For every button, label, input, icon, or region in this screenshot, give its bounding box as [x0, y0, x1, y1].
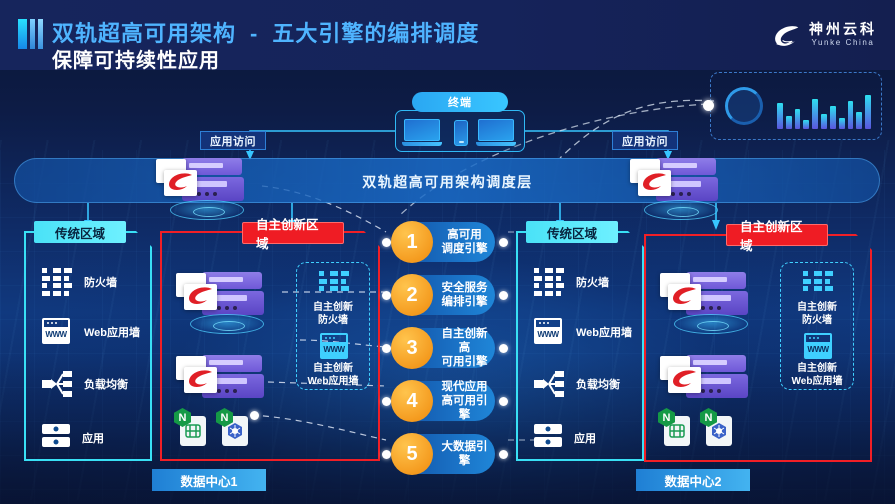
web-application-wall-icon: WWW — [534, 318, 564, 346]
access-label-left: 应用访问 — [200, 131, 266, 150]
engine-item-3[interactable]: 3 自主创新高 可用引擎 — [395, 328, 495, 368]
brand-card-icon — [184, 367, 217, 393]
laptop-icon — [404, 119, 444, 146]
web-application-wall-icon: WWW — [320, 333, 348, 359]
firewall-icon — [42, 268, 72, 296]
application-server-icon — [534, 424, 562, 452]
dc2-service-firewall: 防火墙 — [534, 268, 609, 296]
widget-connector-dot — [703, 100, 714, 111]
dc1-service-mesh-tile: N — [180, 416, 206, 446]
dc2-inner-waf-label: 自主创新 Web应用墙 — [781, 362, 853, 388]
page-title-dash: - — [236, 21, 272, 46]
dc1-kubernetes-tile: N — [222, 416, 248, 446]
dc1-innovation-inner-box: 自主创新 防火墙 WWW 自主创新 Web应用墙 — [296, 262, 370, 390]
brand-logo: 神州云科 Yunke China — [772, 22, 877, 49]
engine-connector-dot-left — [382, 397, 391, 406]
engine-number: 1 — [391, 221, 433, 263]
engine-label: 现代应用 高可用引擎 — [439, 380, 490, 422]
scheduling-band-label: 双轨超高可用架构调度层 — [0, 172, 895, 192]
engine-number: 2 — [391, 274, 433, 316]
web-application-wall-icon: WWW — [804, 333, 832, 359]
firewall-icon — [534, 268, 564, 296]
page-title-sub: 五大引擎的编排调度 — [272, 21, 479, 46]
engine-connector-dot-left — [382, 344, 391, 353]
service-label: 负载均衡 — [84, 376, 128, 392]
engine-connector-dot-right — [499, 291, 508, 300]
engine-connector-dot-left — [382, 238, 391, 247]
dc2-server-stack-1 — [660, 272, 752, 318]
band-server-stack-right — [630, 158, 722, 204]
engine-label: 安全服务 编排引擎 — [439, 281, 490, 309]
service-label: Web应用墙 — [84, 324, 140, 340]
analytics-widget — [710, 72, 882, 140]
page-header: 双轨超高可用架构-五大引擎的编排调度 保障可持续性应用 神州云科 Yunke C… — [0, 0, 895, 70]
datacenter-1-label: 数据中心1 — [152, 469, 266, 491]
dc2-service-lb: 负载均衡 — [534, 370, 620, 398]
dc2-innovation-zone-label: 自主创新区域 — [726, 224, 828, 246]
engine-item-5[interactable]: 5 大数据引擎 — [395, 434, 495, 474]
access-label-right: 应用访问 — [612, 131, 678, 150]
terminal-group — [395, 110, 525, 152]
server-base-disc — [190, 314, 264, 334]
dc2-inner-firewall-label: 自主创新 防火墙 — [781, 301, 853, 327]
dc2-innovation-inner-box: 自主创新 防火墙 WWW 自主创新 Web应用墙 — [780, 262, 854, 390]
engine-connector-dot-right — [499, 344, 508, 353]
dc1-server-stack-1 — [176, 272, 268, 318]
brand-card-icon — [164, 170, 197, 196]
dc1-service-waf: WWW Web应用墙 — [42, 318, 140, 346]
swirl-logo-icon — [772, 23, 802, 49]
engine-number: 3 — [391, 327, 433, 369]
engine-label: 大数据引擎 — [439, 440, 490, 468]
datacenter-2-label: 数据中心2 — [636, 469, 750, 491]
service-label: 防火墙 — [84, 274, 117, 290]
dc1-cluster-connector-dot — [250, 411, 259, 420]
dc2-service-app: 应用 — [534, 424, 596, 452]
dc2-server-stack-2 — [660, 355, 752, 401]
laptop-icon — [478, 119, 518, 146]
brand-card-icon — [184, 284, 217, 310]
application-server-icon — [42, 424, 70, 452]
firewall-icon — [803, 271, 833, 291]
dc1-inner-firewall-label: 自主创新 防火墙 — [297, 301, 369, 327]
brand-card-icon — [638, 170, 671, 196]
engine-connector-dot-right — [499, 238, 508, 247]
engine-number: 5 — [391, 433, 433, 475]
dc2-service-waf: WWW Web应用墙 — [534, 318, 632, 346]
brand-name-cn: 神州云科 — [809, 22, 877, 37]
engine-connector-dot-left — [382, 450, 391, 459]
dc2-kubernetes-tile: N — [706, 416, 732, 446]
service-label: 负载均衡 — [576, 376, 620, 392]
brand-card-icon — [668, 284, 701, 310]
dc1-service-lb: 负载均衡 — [42, 370, 128, 398]
engine-label: 高可用 调度引擎 — [439, 228, 490, 256]
engine-connector-dot-right — [499, 450, 508, 459]
engine-item-2[interactable]: 2 安全服务 编排引擎 — [395, 275, 495, 315]
dc1-traditional-zone-label: 传统区域 — [34, 221, 126, 243]
service-label: 应用 — [82, 430, 104, 446]
dc1-server-stack-2 — [176, 355, 268, 401]
terminal-label: 终端 — [412, 92, 508, 112]
dc2-service-mesh-tile: N — [664, 416, 690, 446]
page-title-main: 双轨超高可用架构 — [52, 21, 236, 46]
dc1-service-app: 应用 — [42, 424, 104, 452]
load-balancer-icon — [42, 370, 72, 398]
service-label: 防火墙 — [576, 274, 609, 290]
engine-number: 4 — [391, 380, 433, 422]
load-balancer-icon — [534, 370, 564, 398]
engine-connector-dot-left — [382, 291, 391, 300]
engine-item-1[interactable]: 1 高可用 调度引擎 — [395, 222, 495, 262]
phone-icon — [454, 120, 468, 146]
dc1-inner-waf-label: 自主创新 Web应用墙 — [297, 362, 369, 388]
service-label: Web应用墙 — [576, 324, 632, 340]
web-application-wall-icon: WWW — [42, 318, 72, 346]
engine-item-4[interactable]: 4 现代应用 高可用引擎 — [395, 381, 495, 421]
server-base-disc — [674, 314, 748, 334]
server-base-disc — [170, 200, 244, 220]
brand-name-en: Yunke China — [809, 37, 877, 49]
engine-connector-dot-right — [499, 397, 508, 406]
dc1-innovation-zone-label: 自主创新区域 — [242, 222, 344, 244]
bar-chart-icon — [777, 85, 871, 129]
service-label: 应用 — [574, 430, 596, 446]
band-server-stack-left — [156, 158, 248, 204]
brand-card-icon — [668, 367, 701, 393]
firewall-icon — [319, 271, 349, 291]
page-subtitle: 保障可持续性应用 — [52, 44, 220, 73]
server-base-disc — [644, 200, 718, 220]
dc2-traditional-zone-label: 传统区域 — [526, 221, 618, 243]
header-accent-bars-icon — [18, 19, 43, 49]
donut-chart-icon — [725, 87, 763, 125]
dc1-service-firewall: 防火墙 — [42, 268, 117, 296]
engine-label: 自主创新高 可用引擎 — [439, 327, 490, 369]
